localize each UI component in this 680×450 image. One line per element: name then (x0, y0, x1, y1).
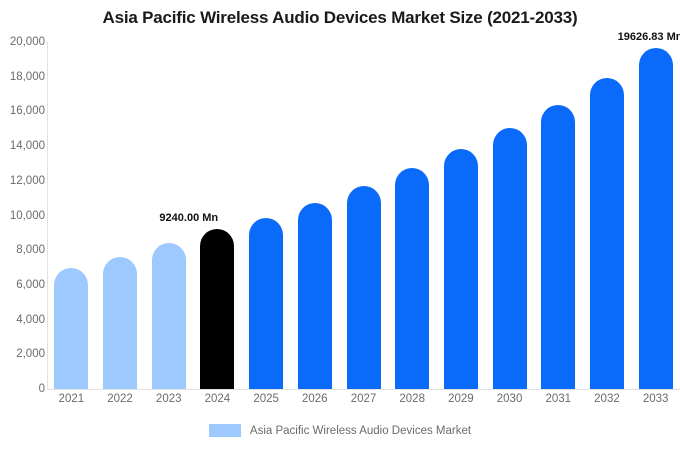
x-axis-tick-label: 2028 (388, 393, 437, 405)
chart-title: Asia Pacific Wireless Audio Devices Mark… (0, 8, 680, 28)
y-axis-tick-label: 10,000 (1, 210, 45, 222)
x-axis-tick-label: 2033 (631, 393, 680, 405)
chart-legend: Asia Pacific Wireless Audio Devices Mark… (0, 424, 680, 437)
bar[interactable] (590, 78, 624, 389)
bar[interactable] (152, 243, 186, 389)
y-axis-tick-label: 14,000 (1, 140, 45, 152)
y-axis-tick-label: 6,000 (1, 279, 45, 291)
bar[interactable] (298, 203, 332, 390)
y-axis-tick-label: 12,000 (1, 175, 45, 187)
y-axis-tick-label: 2,000 (1, 348, 45, 360)
y-axis-tick-label: 8,000 (1, 244, 45, 256)
x-axis-tick-label: 2032 (583, 393, 632, 405)
bar[interactable] (347, 186, 381, 389)
y-axis-tick-label: 0 (1, 383, 45, 395)
y-axis-tick-label: 4,000 (1, 314, 45, 326)
bar[interactable] (249, 218, 283, 389)
x-axis-line (47, 389, 680, 390)
legend-item-label: Asia Pacific Wireless Audio Devices Mark… (250, 425, 471, 437)
x-axis-tick-label: 2023 (144, 393, 193, 405)
bars-container: 9240.00 Mn19626.83 Mn (47, 42, 680, 389)
legend-item[interactable]: Asia Pacific Wireless Audio Devices Mark… (209, 424, 471, 437)
x-axis-tick-label: 2027 (339, 393, 388, 405)
x-axis-tick-label: 2025 (242, 393, 291, 405)
bar[interactable] (395, 168, 429, 389)
bar-value-label: 19626.83 Mn (618, 31, 680, 43)
x-axis-tick-label: 2030 (485, 393, 534, 405)
y-axis-tick-label: 20,000 (1, 36, 45, 48)
x-axis-tick-label: 2029 (437, 393, 486, 405)
y-axis-tick-label: 18,000 (1, 71, 45, 83)
x-axis-tick-label: 2021 (47, 393, 96, 405)
y-axis: 02,0004,0006,0008,00010,00012,00014,0001… (0, 0, 45, 450)
bar[interactable] (200, 229, 234, 389)
bar[interactable] (444, 149, 478, 389)
bar[interactable] (493, 128, 527, 389)
x-axis-tick-label: 2022 (96, 393, 145, 405)
x-axis: 2021202220232024202520262027202820292030… (47, 393, 680, 415)
y-axis-tick-label: 16,000 (1, 105, 45, 117)
bar[interactable] (103, 257, 137, 389)
bar-chart: Asia Pacific Wireless Audio Devices Mark… (0, 0, 680, 450)
bar-value-label: 9240.00 Mn (159, 212, 218, 224)
x-axis-tick-label: 2031 (534, 393, 583, 405)
bar[interactable] (54, 268, 88, 389)
bar[interactable] (639, 48, 673, 389)
bar[interactable] (541, 105, 575, 389)
x-axis-tick-label: 2024 (193, 393, 242, 405)
x-axis-tick-label: 2026 (290, 393, 339, 405)
legend-swatch-icon (209, 424, 241, 437)
